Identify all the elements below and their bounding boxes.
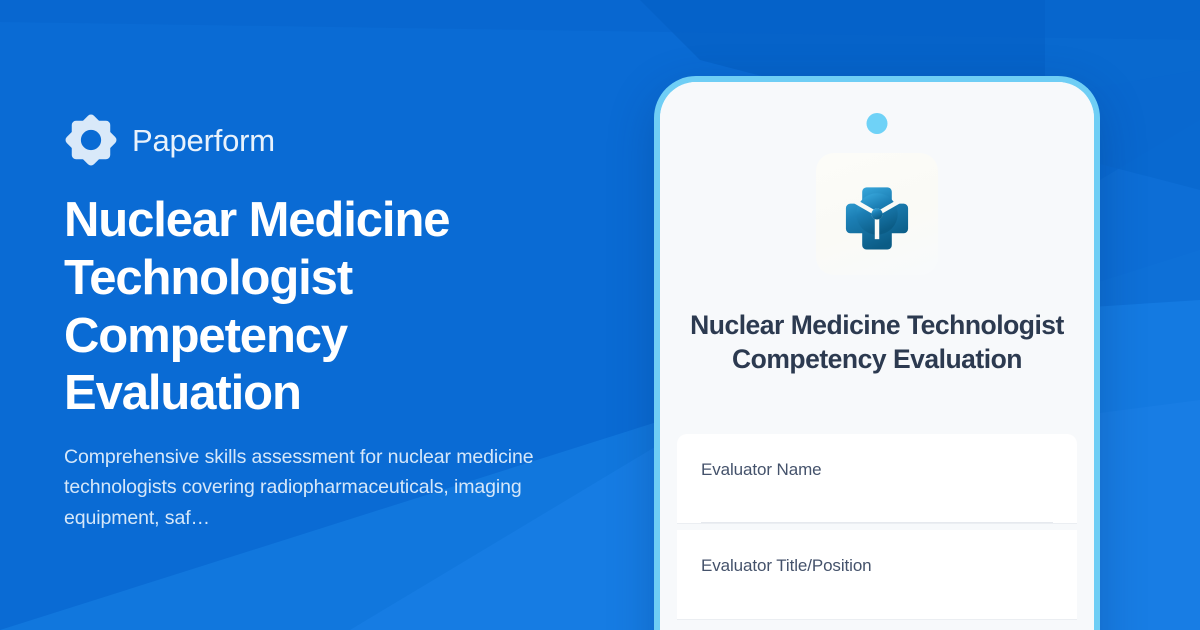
phone-screen: Nuclear Medicine Technologist Competency… (660, 82, 1094, 630)
field-label: Evaluator Title/Position (701, 556, 1053, 576)
page-title: Nuclear Medicine Technologist Competency… (64, 192, 544, 423)
form-field-evaluator-name[interactable]: Evaluator Name (677, 434, 1077, 523)
form-field-evaluator-title[interactable]: Evaluator Title/Position (677, 530, 1077, 618)
form-icon-container (816, 153, 938, 275)
page-description: Comprehensive skills assessment for nucl… (64, 442, 534, 533)
social-card-canvas: Paperform Nuclear Medicine Technologist … (0, 0, 1200, 630)
field-label: Evaluator Name (701, 460, 1053, 480)
evaluator-title-input[interactable] (701, 577, 1053, 619)
form-title: Nuclear Medicine Technologist Competency… (682, 309, 1072, 377)
evaluator-name-input[interactable] (701, 480, 1053, 523)
nuclear-medicine-cross-icon (840, 177, 914, 251)
phone-mockup: Nuclear Medicine Technologist Competency… (654, 76, 1100, 630)
paperform-logo-icon (64, 113, 118, 167)
brand-lockup: Paperform (64, 113, 275, 167)
camera-dot-icon (867, 113, 888, 134)
brand-name: Paperform (132, 125, 275, 156)
hero-left-column: Paperform Nuclear Medicine Technologist … (64, 0, 584, 630)
form-fields: Evaluator Name Evaluator Title/Position (677, 434, 1077, 619)
